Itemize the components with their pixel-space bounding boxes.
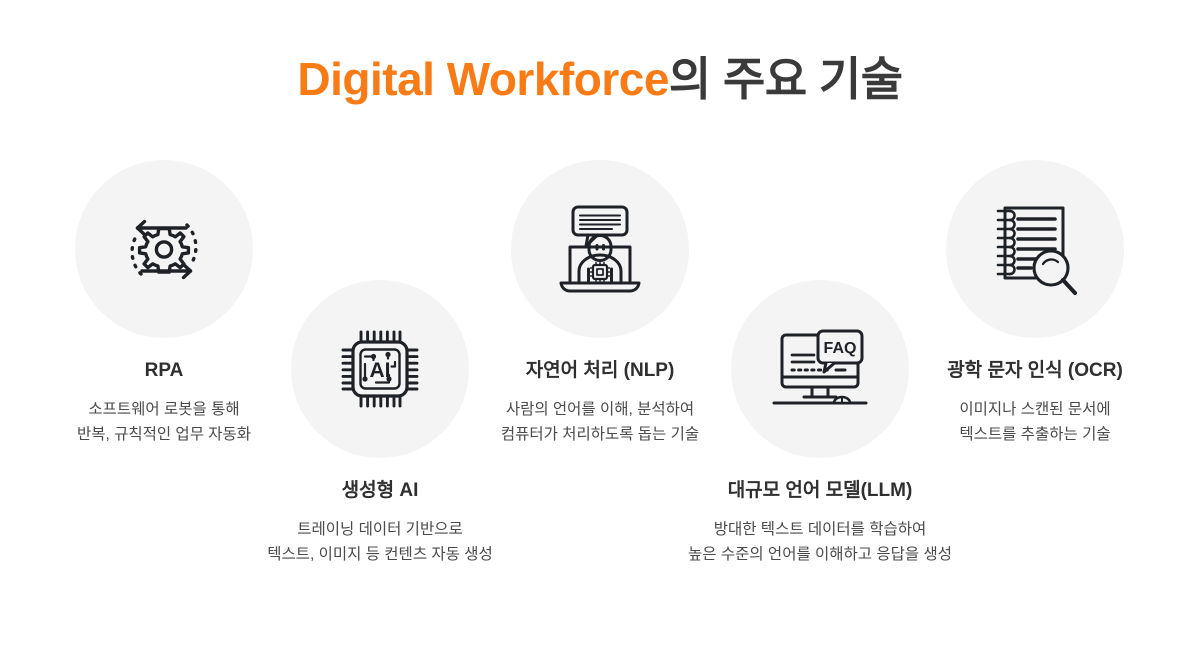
monitor-faq-icon: FAQ bbox=[768, 321, 872, 417]
tech-card-title: 자연어 처리 (NLP) bbox=[526, 359, 675, 384]
tech-card-title: 생성형 AI bbox=[342, 479, 419, 504]
tech-card-description: 소프트웨어 로봇을 통해 반복, 규칙적인 업무 자동화 bbox=[77, 397, 251, 448]
tech-card-ocr[interactable]: 광학 문자 인식 (OCR) 이미지나 스캔된 문서에 텍스트를 추출하는 기술 bbox=[915, 160, 1155, 448]
page-title-rest: 의 주요 기술 bbox=[669, 53, 903, 105]
laptop-robot-chat-icon bbox=[548, 199, 652, 299]
page-title-accent: Digital Workforce bbox=[297, 53, 669, 105]
ai-chip-icon: AI bbox=[331, 320, 429, 418]
tech-card-description: 방대한 텍스트 데이터를 학습하여 높은 수준의 언어를 이해하고 응답을 생성 bbox=[688, 517, 952, 568]
tech-card-description-line1: 사람의 언어를 이해, 분석하여 bbox=[501, 397, 699, 423]
icon-circle-generative-ai: AI bbox=[291, 280, 469, 458]
ai-chip-icon-text: AI bbox=[370, 359, 391, 382]
tech-card-description-line2: 높은 수준의 언어를 이해하고 응답을 생성 bbox=[688, 542, 952, 568]
tech-card-description-line2: 반복, 규칙적인 업무 자동화 bbox=[77, 422, 251, 448]
tech-card-title: RPA bbox=[145, 359, 184, 384]
tech-card-description: 이미지나 스캔된 문서에 텍스트를 추출하는 기술 bbox=[959, 397, 1110, 448]
tech-card-description-line1: 소프트웨어 로봇을 통해 bbox=[77, 397, 251, 423]
tech-card-generative-ai[interactable]: AI 생성형 AI 트레이닝 데이터 기반으로 텍스트, 이미지 등 컨텐츠 자… bbox=[260, 280, 500, 568]
tech-card-nlp[interactable]: 자연어 처리 (NLP) 사람의 언어를 이해, 분석하여 컴퓨터가 처리하도록… bbox=[480, 160, 720, 448]
faq-bubble-text: FAQ bbox=[824, 340, 857, 357]
page-title: Digital Workforce의 주요 기술 bbox=[0, 52, 1200, 107]
document-magnifier-icon bbox=[985, 198, 1085, 300]
tech-card-description-line2: 텍스트, 이미지 등 컨텐츠 자동 생성 bbox=[267, 542, 492, 568]
tech-card-llm[interactable]: FAQ 대규모 언어 모델(LLM) 방대한 텍스트 데이터를 학습하여 높은 … bbox=[700, 280, 940, 568]
icon-circle-llm: FAQ bbox=[731, 280, 909, 458]
tech-card-title: 광학 문자 인식 (OCR) bbox=[947, 359, 1123, 384]
tech-card-description-line2: 컴퓨터가 처리하도록 돕는 기술 bbox=[501, 422, 699, 448]
technology-card-group: RPA 소프트웨어 로봇을 통해 반복, 규칙적인 업무 자동화 bbox=[0, 160, 1200, 630]
tech-card-description-line1: 트레이닝 데이터 기반으로 bbox=[267, 517, 492, 543]
tech-card-description: 사람의 언어를 이해, 분석하여 컴퓨터가 처리하도록 돕는 기술 bbox=[501, 397, 699, 448]
icon-circle-ocr bbox=[946, 160, 1124, 338]
icon-circle-nlp bbox=[511, 160, 689, 338]
tech-card-description-line2: 텍스트를 추출하는 기술 bbox=[959, 422, 1110, 448]
gear-cycle-icon bbox=[112, 197, 216, 301]
tech-card-title: 대규모 언어 모델(LLM) bbox=[728, 479, 913, 504]
tech-card-description: 트레이닝 데이터 기반으로 텍스트, 이미지 등 컨텐츠 자동 생성 bbox=[267, 517, 492, 568]
tech-card-rpa[interactable]: RPA 소프트웨어 로봇을 통해 반복, 규칙적인 업무 자동화 bbox=[44, 160, 284, 448]
tech-card-description-line1: 방대한 텍스트 데이터를 학습하여 bbox=[688, 517, 952, 543]
tech-card-description-line1: 이미지나 스캔된 문서에 bbox=[959, 397, 1110, 423]
icon-circle-rpa bbox=[75, 160, 253, 338]
